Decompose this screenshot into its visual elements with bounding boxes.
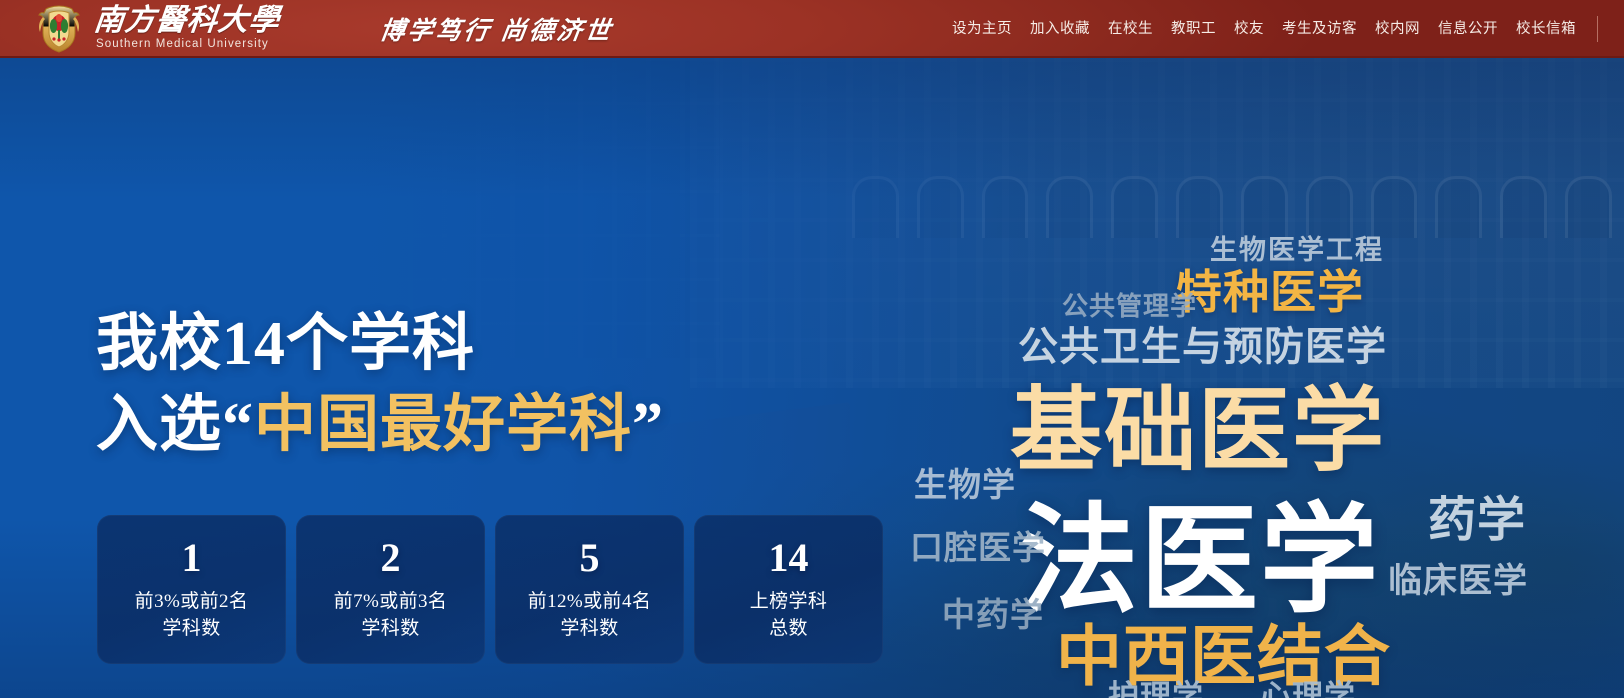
brand-name-en: Southern Medical University: [94, 37, 280, 51]
university-motto: 博学笃行 尚德济世: [376, 0, 617, 58]
university-crest-icon: [33, 3, 85, 55]
site-header: 南方醫科大學 Southern Medical University 博学笃行 …: [0, 0, 1624, 58]
word-cloud-item-nursing: 护理学: [1108, 671, 1204, 698]
word-cloud-item-stomatology: 口腔医学: [910, 521, 1046, 569]
stat-card[interactable]: 14 上榜学科 总数: [694, 515, 883, 664]
nav-item-intranet[interactable]: 校内网: [1366, 0, 1429, 58]
top-navigation: 设为主页 加入收藏 在校生 教职工 校友 考生及访客 校内网 信息公开 校长信箱: [943, 0, 1600, 58]
headline-quote-open: “: [222, 391, 254, 459]
stat-label-line-1: 上榜学科: [750, 588, 828, 615]
stat-label-line-2: 总数: [769, 615, 808, 642]
stat-card[interactable]: 2 前7%或前3名 学科数: [296, 515, 485, 664]
nav-item-information-disclosure[interactable]: 信息公开: [1429, 0, 1507, 58]
word-cloud-item-chinese-pharmacology: 中药学: [942, 588, 1044, 636]
stat-card[interactable]: 5 前12%或前4名 学科数: [495, 515, 684, 664]
stat-label-line-1: 前7%或前3名: [334, 588, 448, 615]
headline-quote-close: ”: [632, 391, 664, 459]
stat-number: 1: [182, 538, 202, 578]
stat-label-line-1: 前3%或前2名: [135, 588, 249, 615]
word-cloud-item-special-medicine: 特种医学: [1176, 256, 1364, 322]
banner-headline: 我校14个学科 入选“中国最好学科”: [96, 308, 664, 462]
nav-item-students[interactable]: 在校生: [1099, 0, 1162, 58]
nav-item-applicants-visitors[interactable]: 考生及访客: [1273, 0, 1366, 58]
word-cloud-item-pharmacy: 药学: [1428, 480, 1526, 550]
nav-item-add-favorite[interactable]: 加入收藏: [1021, 0, 1099, 58]
site-brand[interactable]: 南方醫科大學 Southern Medical University: [33, 2, 280, 56]
stat-number: 14: [769, 538, 809, 578]
nav-divider: [1597, 16, 1598, 42]
stat-label-line-2: 学科数: [560, 615, 618, 642]
stat-number: 2: [381, 538, 401, 578]
word-cloud-item-psychology: 心理学: [1260, 671, 1356, 698]
headline-line-2: 入选“中国最好学科”: [96, 389, 664, 462]
nav-item-faculty-staff[interactable]: 教职工: [1162, 0, 1225, 58]
stat-card-group: 1 前3%或前2名 学科数 2 前7%或前3名 学科数 5 前12%或前4名 学…: [97, 515, 883, 664]
stat-label-line-2: 学科数: [162, 615, 220, 642]
headline-highlight: 中国最好学科: [254, 391, 632, 459]
headline-line-1: 我校14个学科: [96, 308, 664, 381]
nav-item-alumni[interactable]: 校友: [1225, 0, 1273, 58]
nav-item-set-homepage[interactable]: 设为主页: [943, 0, 1021, 58]
headline-line-2-prefix: 入选: [96, 391, 222, 459]
discipline-word-cloud: 生物医学工程 特种医学 公共管理学 公共卫生与预防医学 基础医学 生物学 法医学…: [880, 116, 1624, 698]
brand-name-cn: 南方醫科大學: [92, 5, 281, 37]
stat-card[interactable]: 1 前3%或前2名 学科数: [97, 515, 286, 664]
stat-number: 5: [580, 538, 600, 578]
stat-label-line-1: 前12%或前4名: [528, 588, 652, 615]
hero-banner[interactable]: 我校14个学科 入选“中国最好学科” 1 前3%或前2名 学科数 2 前7%或前…: [0, 58, 1624, 698]
word-cloud-item-clinical-medicine: 临床医学: [1388, 553, 1528, 602]
word-cloud-item-biology: 生物学: [914, 458, 1016, 506]
nav-item-presidents-mailbox[interactable]: 校长信箱: [1507, 0, 1585, 58]
stat-label-line-2: 学科数: [361, 615, 419, 642]
